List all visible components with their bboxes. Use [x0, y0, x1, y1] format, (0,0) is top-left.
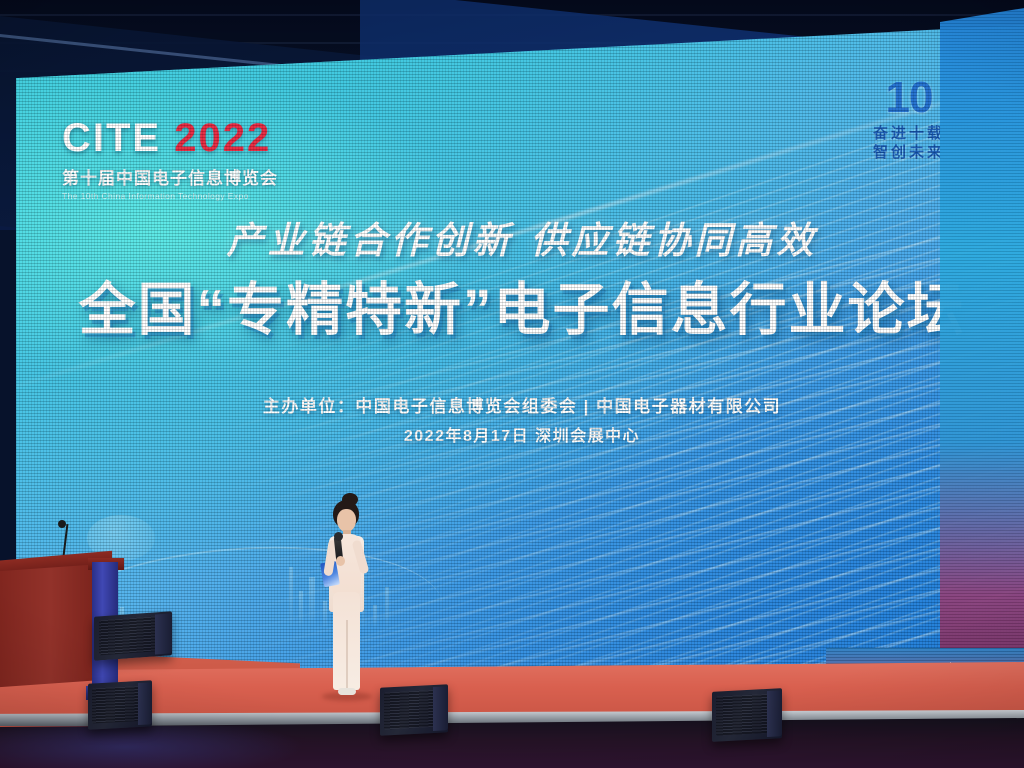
stage-monitor-speaker	[712, 688, 782, 742]
cite-logo-english: The 10th China Information Technology Ex…	[62, 191, 278, 201]
host-shoes	[338, 688, 356, 695]
stage-monitor-speaker	[88, 680, 152, 729]
speaker-side-panel	[433, 686, 448, 731]
podium-body	[0, 564, 98, 687]
cite-logo-year: 2022	[174, 116, 271, 160]
speaker-side-panel	[155, 613, 172, 655]
podium-mic-head	[58, 520, 66, 528]
led-panel-right-scanlines	[940, 8, 1024, 708]
forum-organizer-line: 主办单位：中国电子信息博览会组委会 | 中国电子器材有限公司	[16, 392, 1024, 417]
stage-front-glow	[0, 726, 420, 768]
stage-photo-scene: CITE 2022 第十届中国电子信息博览会 The 10th China In…	[0, 0, 1024, 768]
led-backdrop: CITE 2022 第十届中国电子信息博览会 The 10th China In…	[16, 14, 1024, 684]
cite-logo: CITE 2022 第十届中国电子信息博览会 The 10th China In…	[62, 118, 278, 201]
speaker-grille	[384, 690, 434, 730]
cite-logo-latin: CITE	[62, 116, 161, 160]
led-surface: CITE 2022 第十届中国电子信息博览会 The 10th China In…	[16, 14, 1024, 682]
led-content: CITE 2022 第十届中国电子信息博览会 The 10th China In…	[16, 14, 1024, 682]
host-face	[337, 509, 356, 532]
speaker-side-panel	[138, 682, 152, 725]
stage-monitor-speaker	[94, 611, 172, 660]
cite-logo-chinese: 第十届中国电子信息博览会	[62, 164, 278, 189]
host-presenter	[316, 500, 376, 700]
host-microphone-head	[334, 532, 343, 541]
host-trouser-seam	[346, 620, 348, 688]
speaker-grille	[99, 617, 157, 655]
speaker-side-panel	[767, 690, 782, 737]
forum-headline: 产业链合作创新 供应链协同高效	[16, 210, 1024, 264]
host-hand	[336, 556, 345, 566]
stage-monitor-speaker	[380, 684, 448, 736]
forum-date-venue-line: 2022年8月17日 深圳会展中心	[16, 422, 1024, 446]
led-panel-right	[940, 8, 1024, 708]
forum-main-title: 全国“专精特新”电子信息行业论坛	[16, 264, 1024, 346]
speaker-grille	[716, 694, 768, 736]
speaker-grille	[92, 686, 139, 724]
cite-logo-wordmark: CITE 2022	[62, 118, 278, 158]
